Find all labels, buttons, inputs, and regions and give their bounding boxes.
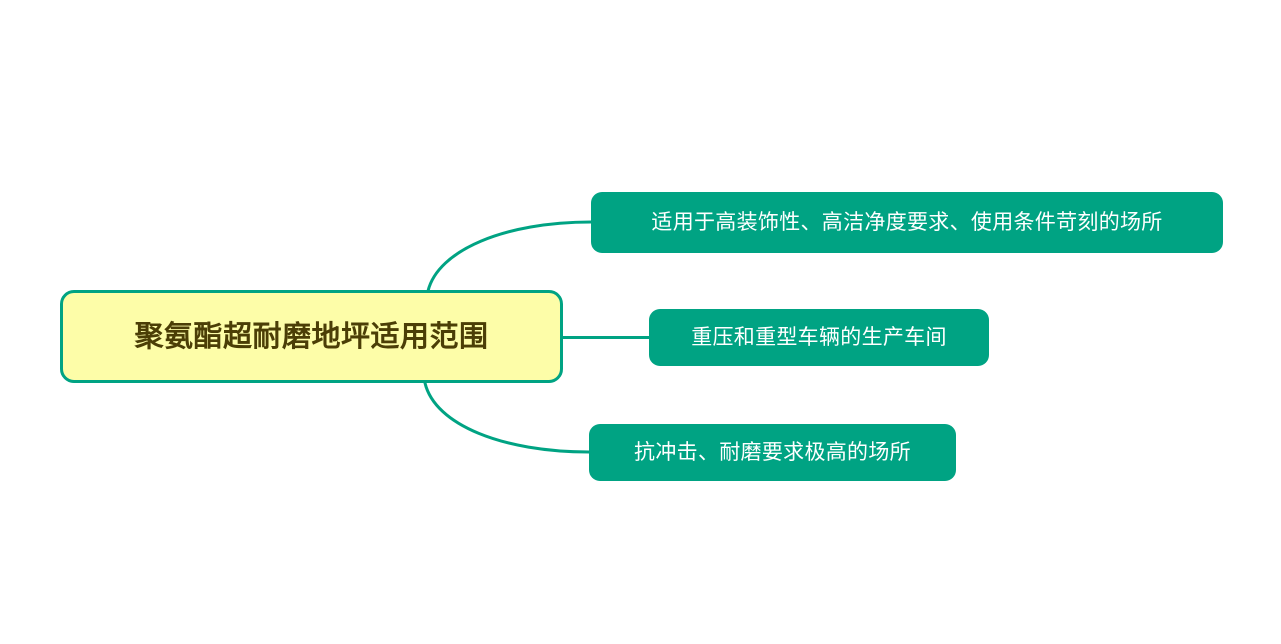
mindmap-branch-node-2[interactable]: 抗冲击、耐磨要求极高的场所 <box>589 424 956 481</box>
mindmap-branch-node-1[interactable]: 重压和重型车辆的生产车间 <box>649 309 989 366</box>
branch-node-2-label: 抗冲击、耐磨要求极高的场所 <box>634 442 911 463</box>
root-node-label: 聚氨酯超耐磨地坪适用范围 <box>134 322 488 351</box>
branch-node-0-label: 适用于高装饰性、高洁净度要求、使用条件苛刻的场所 <box>651 212 1162 233</box>
mindmap-root-node[interactable]: 聚氨酯超耐磨地坪适用范围 <box>60 290 563 383</box>
mindmap-branch-node-0[interactable]: 适用于高装饰性、高洁净度要求、使用条件苛刻的场所 <box>591 192 1223 253</box>
connector-curve-branch-0 <box>428 222 591 291</box>
branch-node-1-label: 重压和重型车辆的生产车间 <box>691 327 947 348</box>
connector-curve-branch-2 <box>425 383 589 452</box>
mindmap-canvas: 聚氨酯超耐磨地坪适用范围 适用于高装饰性、高洁净度要求、使用条件苛刻的场所 重压… <box>0 0 1281 644</box>
